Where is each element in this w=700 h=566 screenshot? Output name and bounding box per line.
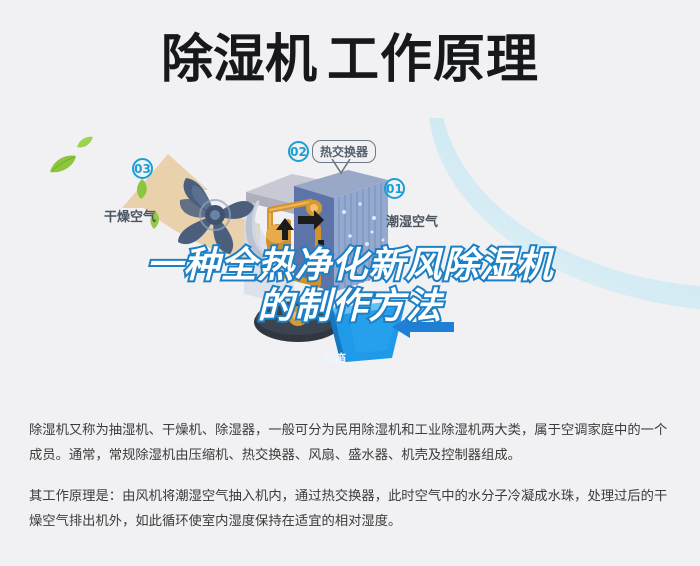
title-part-2: 工作原理 bbox=[327, 30, 539, 90]
label-dry-air: 03 干燥空气 bbox=[104, 206, 156, 225]
body-text-block: 除湿机又称为抽湿机、干燥机、除湿器，一般可分为民用除湿机和工业除湿机两大类，属于… bbox=[29, 418, 674, 550]
diagram-bullet-02: 气经过蒸发器冷凝成水珠 bbox=[352, 406, 517, 408]
fan-propeller-icon bbox=[160, 160, 270, 270]
badge-03-dry: 03 bbox=[132, 158, 153, 179]
label-dry-air-text: 干燥空气 bbox=[104, 210, 156, 225]
leaf-icon bbox=[48, 154, 78, 176]
intake-arrow-icon bbox=[392, 314, 454, 340]
leaf-icon bbox=[134, 178, 150, 200]
label-water-tank: 水箱 bbox=[322, 350, 346, 367]
dehumidifier-diagram: 03 干燥空气 02热交换器 01 潮湿空气 水箱 气经过蒸发器冷凝成水珠 03… bbox=[0, 118, 700, 408]
title-band: 除湿机工作原理 bbox=[0, 0, 700, 120]
body-paragraph-2: 其工作原理是：由风机将潮湿空气抽入机内，通过热交换器，此时空气中的水分子冷凝成水… bbox=[29, 484, 674, 534]
bubble-pointer-icon bbox=[330, 159, 352, 175]
label-humid-air-text: 潮湿空气 bbox=[386, 211, 438, 230]
label-heat-exchanger: 02热交换器 bbox=[288, 140, 376, 163]
page-title: 除湿机工作原理 bbox=[0, 32, 700, 88]
leaf-icon bbox=[76, 136, 94, 150]
body-paragraph-1: 除湿机又称为抽湿机、干燥机、除湿器，一般可分为民用除湿机和工业除湿机两大类，属于… bbox=[29, 418, 674, 468]
title-part-1: 除湿机 bbox=[161, 30, 317, 90]
infographic-page: 除湿机工作原理 bbox=[0, 0, 700, 566]
badge-01-humid: 01 bbox=[384, 178, 405, 199]
badge-02-heat-exchanger: 02 bbox=[288, 141, 309, 162]
label-humid-air: 01 潮湿空气 bbox=[384, 178, 438, 230]
